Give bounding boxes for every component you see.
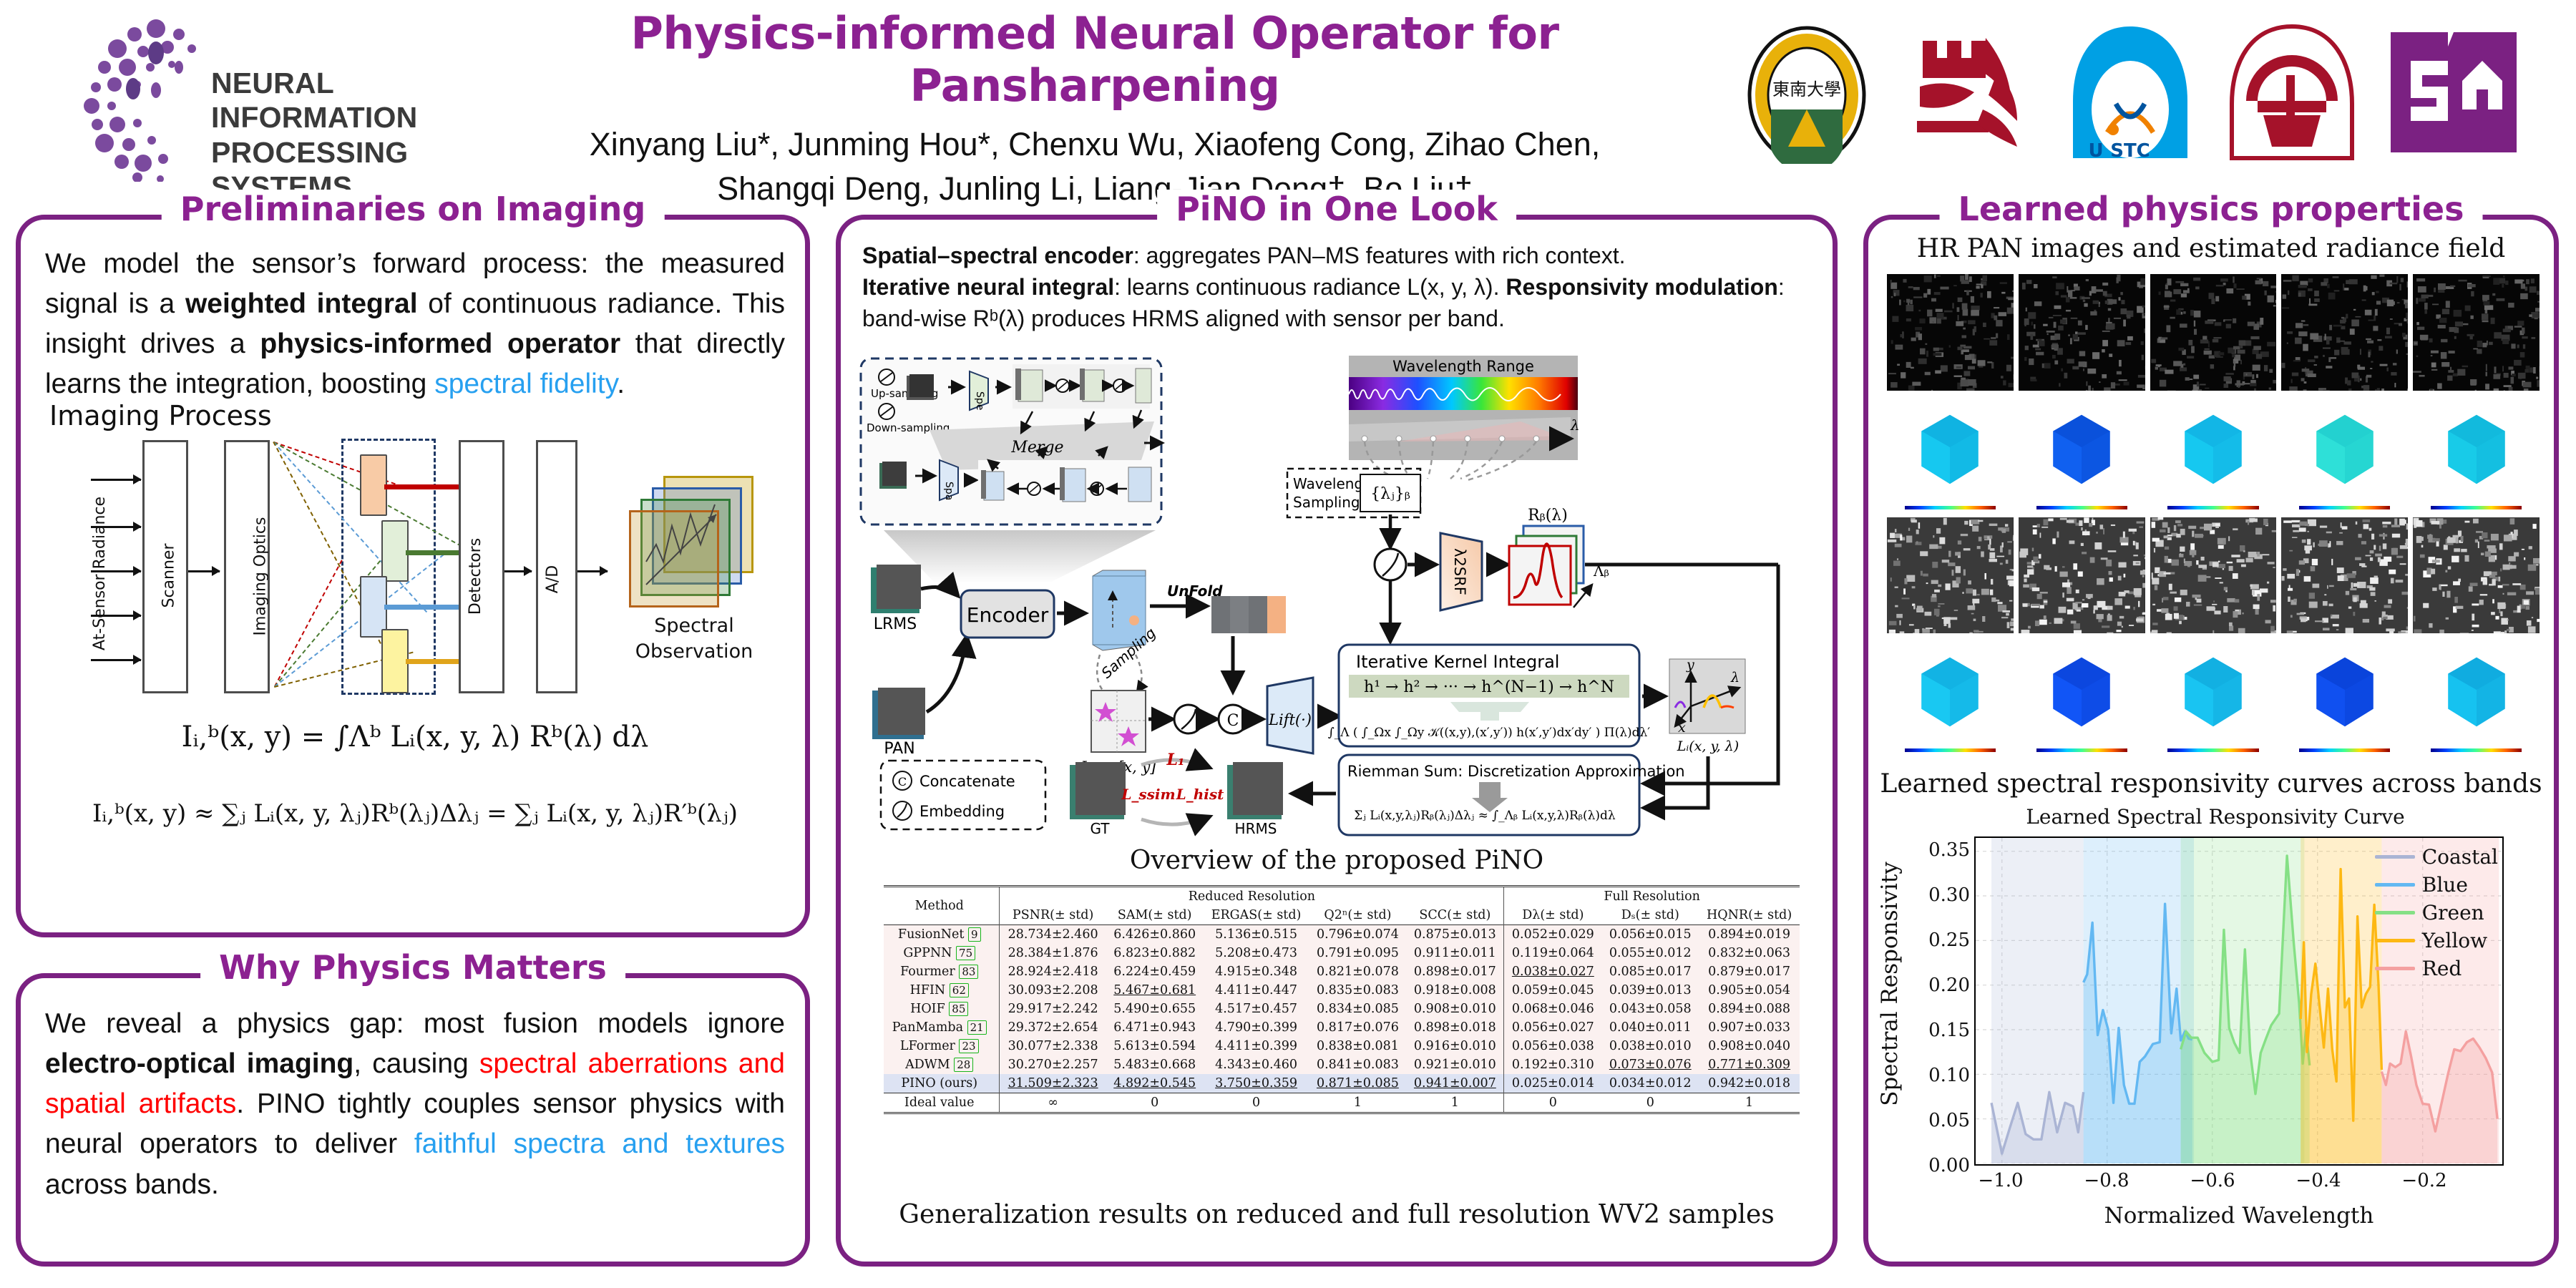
x-tick-label: −0.4 [2296, 1170, 2341, 1191]
diagram-label-scanner: Scanner [160, 543, 178, 608]
cell-value: 0.875±0.013 [1406, 925, 1503, 945]
cell-value: 0.056±0.038 [1504, 1037, 1601, 1055]
x-tick-label: −1.0 [1978, 1170, 2023, 1191]
pino-line1-rest: : aggregates PAN–MS features with rich c… [1133, 243, 1626, 268]
ideal-scc: 1 [1406, 1093, 1503, 1113]
cell-value: 0.898±0.018 [1406, 1018, 1503, 1037]
y-tick-label: 0.00 [1928, 1155, 1970, 1176]
lambda-set-label: {λⱼ}ᵦ [1370, 485, 1410, 503]
hohai-university-logo [1897, 21, 2040, 164]
col-header-ergas: ERGAS(± std) [1204, 906, 1309, 925]
cell-value: 0.941±0.007 [1406, 1074, 1503, 1093]
results-table-head: Method Reduced Resolution Full Resolutio… [884, 887, 1800, 925]
radiance-field-cube [2019, 396, 2145, 512]
col-header-scc: SCC(± std) [1406, 906, 1503, 925]
y-tick-label: 0.05 [1928, 1110, 1970, 1131]
equation-discrete-sum: Iᵢ,ᵇ(x, y) ≈ ∑ⱼ Lᵢ(x, y, λⱼ)Rᵇ(λⱼ)Δλⱼ = … [45, 799, 785, 828]
chart-title: Learned Spectral Responsivity Curve [1890, 805, 2541, 829]
cell-value: 0.879±0.017 [1699, 962, 1800, 981]
cell-value: 0.916±0.010 [1406, 1037, 1503, 1055]
cell-method: GPPNN 75 [884, 944, 1000, 962]
colorbar [2299, 506, 2390, 509]
table-row-ideal: Ideal value ∞ 0 0 1 1 0 0 1 [884, 1093, 1800, 1113]
cell-method: PINO (ours) [884, 1074, 1000, 1093]
table-row: PINO (ours)31.509±2.3234.892±0.5453.750±… [884, 1074, 1800, 1093]
spectrum-curve-icon [629, 476, 751, 605]
legend-swatch [2375, 967, 2415, 970]
reference-badge[interactable]: 75 [956, 946, 975, 960]
colorbar [2431, 506, 2522, 509]
author-line-1: Xinyang Liu*, Junming Hou*, Chenxu Wu, X… [472, 123, 1717, 166]
cube-icon [2047, 655, 2116, 729]
imaging-process-diagram: At-Sensor Radiance Scanner Imaging Optic… [47, 434, 784, 706]
colorbar [2167, 748, 2258, 752]
why-bold-1: electro-optical imaging [45, 1048, 353, 1079]
prelim-bold-2: physics-informed operator [260, 328, 620, 359]
table-column-header-row: PSNR(± std) SAM(± std) ERGAS(± std) Q2ⁿ(… [884, 906, 1800, 925]
y-tick-label: 0.35 [1928, 839, 1970, 861]
riemann-eq: Σⱼ Lᵢ(x,y,λⱼ)Rᵦ(λⱼ)Δλⱼ ≈ ∫_Λᵦ Lᵢ(x,y,λ)R… [1354, 809, 1616, 823]
cube-icon [2311, 655, 2379, 729]
pino-bold-integral: Iterative neural integral [862, 274, 1114, 300]
cell-value: 0.056±0.027 [1504, 1018, 1601, 1037]
cell-value: 0.043±0.058 [1601, 1000, 1699, 1018]
cell-value: 5.136±0.515 [1204, 925, 1309, 945]
colorbar [2036, 506, 2127, 509]
ideal-sam: 0 [1106, 1093, 1204, 1113]
chart-plot-area: CoastalBlueGreenYellowRed [1974, 836, 2504, 1166]
cell-value: 0.119±0.064 [1504, 944, 1601, 962]
axis-y-label: y [1686, 657, 1694, 673]
cell-value: 0.791±0.095 [1309, 944, 1406, 962]
panel-title-learned-physics: Learned physics properties [1940, 190, 2483, 228]
cell-value: 4.790±0.399 [1204, 1018, 1309, 1037]
cell-value: 0.921±0.010 [1406, 1055, 1503, 1074]
cell-method: ADWM 28 [884, 1055, 1000, 1074]
reference-badge[interactable]: 9 [968, 927, 981, 942]
cell-value: 29.372±2.654 [1000, 1018, 1106, 1037]
table-row: Fourmer 8328.924±2.4186.224±0.4594.915±0… [884, 962, 1800, 981]
caption-overview: Overview of the proposed PiNO [841, 846, 1833, 875]
diagram-label-imaging-optics: Imaging Optics [251, 517, 269, 636]
cell-value: 5.490±0.655 [1106, 1000, 1204, 1018]
encoder-label: Encoder [967, 603, 1049, 627]
results-table-body: FusionNet 928.734±2.4606.426±0.8605.136±… [884, 925, 1800, 1093]
cell-value: 4.343±0.460 [1204, 1055, 1309, 1074]
spectral-observation-label: Spectral Observation [605, 613, 784, 665]
cell-value: 0.905±0.054 [1699, 981, 1800, 1000]
radiance-field-cube [2281, 638, 2408, 755]
cell-value: 0.034±0.012 [1601, 1074, 1699, 1093]
hr-pan-image [2019, 517, 2145, 634]
col-header-dlambda: Dλ(± std) [1504, 906, 1601, 925]
uestc-logo: STC U [2059, 21, 2202, 164]
spectral-responsivity-chart: Learned Spectral Responsivity Curve Spec… [1890, 805, 2541, 1249]
radiance-field-cube [2413, 396, 2540, 512]
radiance-field-cube [2019, 638, 2145, 755]
equation-integral: Iᵢ,ᵇ(x, y) = ∫Λᵇ Lᵢ(x, y, λ) Rᵇ(λ) dλ [45, 721, 785, 753]
ideal-q2n: 1 [1309, 1093, 1406, 1113]
concat-node-label: C [1227, 712, 1239, 730]
legend-item[interactable]: Red [2375, 957, 2498, 980]
legend-label: Red [2422, 957, 2462, 980]
diagram-label-at-sensor-radiance: At-Sensor Radiance [91, 497, 109, 650]
cell-value: 4.411±0.447 [1204, 981, 1309, 1000]
y-tick-label: 0.10 [1928, 1065, 1970, 1086]
hr-pan-image [2413, 517, 2540, 634]
hr-pan-image [2150, 517, 2277, 634]
cube-icon [2047, 412, 2116, 487]
saut-logo [2382, 21, 2525, 164]
cell-value: 6.823±0.882 [1106, 944, 1204, 962]
diagram-arrow [188, 570, 220, 572]
legend-concatenate-label: Concatenate [919, 773, 1015, 790]
legend-swatch [2375, 911, 2415, 914]
legend-label: Coastal [2422, 845, 2498, 869]
radiance-label: Lᵢ(x, y, λ) [1677, 738, 1739, 754]
panel-preliminaries-on-imaging: Preliminaries on Imaging We model the se… [16, 215, 810, 937]
chart-legend: CoastalBlueGreenYellowRed [2375, 845, 2498, 985]
architecture-svg: Up-sampling Down-sampling Spe [855, 356, 1828, 842]
svg-text:U: U [2088, 140, 2103, 162]
lift-label: Lift(·) [1268, 711, 1312, 728]
radiance-field-cube [1887, 396, 2014, 512]
diagram-label-detectors: Detectors [467, 538, 484, 615]
legend-label: Blue [2422, 873, 2468, 897]
affiliation-logos: 東南大學 STC U [1735, 10, 2547, 175]
table-group-header-row: Method Reduced Resolution Full Resolutio… [884, 887, 1800, 907]
svg-text:東南大學: 東南大學 [1772, 79, 1841, 99]
legend-swatch [2375, 883, 2415, 887]
cell-value: 30.077±2.338 [1000, 1037, 1106, 1055]
radiance-field-cube [1887, 638, 2014, 755]
axis-x-label: x [1678, 720, 1686, 736]
ideal-ds: 0 [1601, 1093, 1699, 1113]
pan-label: PAN [884, 740, 914, 758]
xian-jiaotong-university-logo [2220, 21, 2363, 164]
col-header-sam: SAM(± std) [1106, 906, 1204, 925]
hr-pan-image [2150, 274, 2277, 391]
hrms-label: HRMS [1235, 820, 1277, 837]
ray-red-2 [274, 560, 343, 687]
panel-pino-in-one-look: PiNO in One Look Spatial–spectral encode… [836, 215, 1838, 1267]
neurips-wordmark-line1: NEURAL INFORMATION [211, 66, 472, 135]
pino-line-1: Spatial–spectral encoder: aggregates PAN… [862, 240, 1818, 271]
col-header-ds: Dₛ(± std) [1601, 906, 1699, 925]
cell-value: 6.224±0.459 [1106, 962, 1204, 981]
cube-icon [2179, 655, 2248, 729]
cube-icon [2311, 412, 2379, 487]
detector-line-green [406, 550, 459, 555]
colorbar [2431, 748, 2522, 752]
results-table: Method Reduced Resolution Full Resolutio… [884, 885, 1800, 1114]
cell-value: 6.426±0.860 [1106, 925, 1204, 945]
cell-value: 5.208±0.473 [1204, 944, 1309, 962]
loss-ssim-label: L_ssim [1121, 786, 1175, 803]
cell-value: 0.832±0.063 [1699, 944, 1800, 962]
results-table-foot: Ideal value ∞ 0 0 1 1 0 0 1 [884, 1093, 1800, 1113]
poster-root: NEURAL INFORMATION PROCESSING SYSTEMS Ph… [0, 0, 2576, 1288]
filter-yellow [381, 629, 409, 693]
cell-value: 0.942±0.018 [1699, 1074, 1800, 1093]
svg-text:STC: STC [2110, 140, 2150, 162]
southeast-university-logo: 東南大學 [1735, 21, 1878, 164]
colorbar [2167, 506, 2258, 509]
reference-badge[interactable]: 83 [959, 965, 978, 979]
cell-value: 0.038±0.010 [1601, 1037, 1699, 1055]
pino-summary-paragraph: Spatial–spectral encoder: aggregates PAN… [862, 240, 1818, 334]
cell-value: 0.052±0.029 [1504, 925, 1601, 945]
why-text-2: , causing [353, 1048, 479, 1079]
table-row: ADWM 2830.270±2.2575.483±0.6684.343±0.46… [884, 1055, 1800, 1074]
radiance-field-cube [2150, 638, 2277, 755]
diagram-arrow [504, 570, 532, 572]
cell-value: 0.085±0.017 [1601, 962, 1699, 981]
subtitle-responsivity-curves: Learned spectral responsivity curves acr… [1868, 769, 2554, 799]
radiance-field-cube [2281, 396, 2408, 512]
cell-value: 5.613±0.594 [1106, 1037, 1204, 1055]
group-header-full: Full Resolution [1504, 887, 1800, 907]
diagram-arrow [577, 570, 608, 572]
cell-value: 0.040±0.011 [1601, 1018, 1699, 1037]
reference-badge[interactable]: 23 [959, 1039, 978, 1053]
cell-method: HFIN 62 [884, 981, 1000, 1000]
col-header-q2n: Q2ⁿ(± std) [1309, 906, 1406, 925]
cell-value: 0.911±0.011 [1406, 944, 1503, 962]
cube-icon [2179, 412, 2248, 487]
cube-icon [1916, 655, 1984, 729]
cell-value: 4.517±0.457 [1204, 1000, 1309, 1018]
reference-badge[interactable]: 21 [967, 1020, 987, 1035]
cell-value: 0.771±0.309 [1699, 1055, 1800, 1074]
why-text-4: across bands. [45, 1169, 219, 1200]
cell-value: 0.025±0.014 [1504, 1074, 1601, 1093]
why-physics-paragraph: We reveal a physics gap: most fusion mod… [45, 1004, 785, 1205]
cell-value: 0.192±0.310 [1504, 1055, 1601, 1074]
merge-label: Merge [1010, 439, 1063, 457]
ideal-psnr: ∞ [1000, 1093, 1106, 1113]
cell-value: 28.734±2.460 [1000, 925, 1106, 945]
x-tick-label: −0.2 [2401, 1170, 2446, 1191]
legend-swatch [2375, 855, 2415, 859]
cell-value: 0.817±0.076 [1309, 1018, 1406, 1037]
panel-why-physics-matters: Why Physics Matters We reveal a physics … [16, 973, 810, 1267]
legend-label: Green [2422, 901, 2484, 924]
hr-pan-image [2281, 274, 2408, 391]
reference-badge[interactable]: 28 [954, 1058, 973, 1072]
radiance-arrow [91, 659, 141, 661]
svg-text:Spe: Spe [974, 391, 985, 410]
legend-embedding-label: Embedding [919, 803, 1005, 820]
rb-lambda-label: Rᵦ(λ) [1528, 507, 1568, 525]
cell-value: 30.093±2.208 [1000, 981, 1106, 1000]
diagram-label-ad: A/D [544, 565, 562, 593]
cell-value: 0.038±0.027 [1504, 962, 1601, 981]
cell-method: HOIF 85 [884, 1000, 1000, 1018]
cell-value: 0.918±0.008 [1406, 981, 1503, 1000]
cell-value: 0.068±0.046 [1504, 1000, 1601, 1018]
ideal-dlambda: 0 [1504, 1093, 1601, 1113]
cube-icon [2442, 412, 2511, 487]
chart-x-ticks: −1.0−0.8−0.6−0.4−0.2 [1974, 1170, 2504, 1199]
gt-label: GT [1090, 820, 1110, 837]
svg-text:C: C [898, 775, 907, 789]
detector-line-yellow [406, 659, 459, 664]
cell-value: 0.059±0.045 [1504, 981, 1601, 1000]
cell-value: 28.924±2.418 [1000, 962, 1106, 981]
cell-method: FusionNet 9 [884, 925, 1000, 945]
kernel-chain-eq: h¹ → h² → ··· → h^(N−1) → h^N [1364, 678, 1614, 696]
cell-value: 4.892±0.545 [1106, 1074, 1204, 1093]
cell-method: Fourmer 83 [884, 962, 1000, 981]
legend-label: Yellow [2422, 929, 2487, 952]
table-row: PanMamba 2129.372±2.6546.471±0.9434.790±… [884, 1018, 1800, 1037]
loss-hist-label: L_hist [1176, 786, 1224, 803]
wavelength-range-label: Wavelength Range [1392, 358, 1534, 375]
col-header-hqnr: HQNR(± std) [1699, 906, 1800, 925]
why-text-1: We reveal a physics gap: most fusion mod… [45, 1008, 785, 1039]
filter-green [381, 520, 409, 582]
chart-y-ticks: 0.000.050.100.150.200.250.300.35 [1890, 836, 1970, 1166]
cell-value: 0.894±0.019 [1699, 925, 1800, 945]
legend-item[interactable]: Coastal [2375, 845, 2498, 869]
prelim-text-4: . [617, 369, 625, 399]
cell-value: 0.039±0.013 [1601, 981, 1699, 1000]
hr-pan-image [2019, 274, 2145, 391]
lambda-axis-label: λ [1570, 416, 1580, 434]
loss-l1-label: L₁ [1166, 751, 1184, 769]
poster-title: Physics-informed Neural Operator for Pan… [472, 7, 1717, 112]
chart-xlabel: Normalized Wavelength [1974, 1203, 2504, 1229]
cell-value: 5.483±0.668 [1106, 1055, 1204, 1074]
cell-value: 29.917±2.242 [1000, 1000, 1106, 1018]
cell-value: 0.821±0.078 [1309, 962, 1406, 981]
y-tick-label: 0.20 [1928, 975, 1970, 996]
col-header-method: Method [884, 887, 1000, 925]
cell-value: 0.073±0.076 [1601, 1055, 1699, 1074]
neurips-logo: NEURAL INFORMATION PROCESSING SYSTEMS [72, 10, 472, 182]
cube-icon [1916, 412, 1984, 487]
wavelength-sampling-label-2: Sampling [1293, 494, 1360, 511]
panel-title-why-physics: Why Physics Matters [200, 948, 625, 987]
cell-value: 31.509±2.323 [1000, 1074, 1106, 1093]
radiance-field-cube [2150, 396, 2277, 512]
y-tick-label: 0.15 [1928, 1020, 1970, 1041]
hr-pan-image [2281, 517, 2408, 634]
imaging-process-label: Imaging Process [49, 400, 272, 431]
x-tick-label: −0.6 [2190, 1170, 2235, 1191]
cell-value: 28.384±1.876 [1000, 944, 1106, 962]
caption-results-table: Generalization results on reduced and fu… [841, 1200, 1833, 1229]
y-tick-label: 0.30 [1928, 884, 1970, 906]
cell-value: 4.411±0.399 [1204, 1037, 1309, 1055]
reference-badge[interactable]: 62 [950, 983, 969, 997]
cell-value: 0.871±0.085 [1309, 1074, 1406, 1093]
cell-value: 5.467±0.681 [1106, 981, 1204, 1000]
preliminaries-paragraph: We model the sensor’s forward process: t… [45, 244, 785, 405]
panel-title-preliminaries: Preliminaries on Imaging [162, 190, 665, 228]
hr-pan-image [2413, 274, 2540, 391]
cell-value: 0.908±0.040 [1699, 1037, 1800, 1055]
spectral-observation-line2: Observation [605, 639, 784, 665]
cube-icon [2442, 655, 2511, 729]
hr-pan-image [1887, 274, 2014, 391]
ideal-hqnr: 1 [1699, 1093, 1800, 1113]
cell-value: 30.270±2.257 [1000, 1055, 1106, 1074]
cell-value: 0.796±0.074 [1309, 925, 1406, 945]
table-row: HFIN 6230.093±2.2085.467±0.6814.411±0.44… [884, 981, 1800, 1000]
radiance-field-cube [2413, 638, 2540, 755]
pino-architecture-diagram: Up-sampling Down-sampling Spe [855, 356, 1828, 842]
detector-line-blue [384, 605, 459, 610]
pino-line2-rest: : learns continuous radiance L(x, y, λ). [1114, 274, 1506, 300]
neurips-wordmark: NEURAL INFORMATION PROCESSING SYSTEMS [211, 66, 472, 205]
cell-value: 0.894±0.088 [1699, 1000, 1800, 1018]
kernel-box-title: Iterative Kernel Integral [1356, 652, 1559, 672]
hr-pan-image [1887, 517, 2014, 634]
subtitle-hr-pan: HR PAN images and estimated radiance fie… [1868, 234, 2554, 263]
prelim-highlight-spectral-fidelity: spectral fidelity [434, 369, 617, 399]
x-tick-label: −0.8 [2084, 1170, 2129, 1191]
colorbar [1905, 506, 1996, 509]
col-header-psnr: PSNR(± std) [1000, 906, 1106, 925]
colorbar [2036, 748, 2127, 752]
cell-value: 0.834±0.085 [1309, 1000, 1406, 1018]
cell-method: PanMamba 21 [884, 1018, 1000, 1037]
spectral-observation-line1: Spectral [605, 613, 784, 639]
lrms-label: LRMS [874, 615, 917, 633]
cell-value: 4.915±0.348 [1204, 962, 1309, 981]
cell-value: 0.056±0.015 [1601, 925, 1699, 945]
cell-value: 0.838±0.081 [1309, 1037, 1406, 1055]
legend-swatch [2375, 939, 2415, 942]
panel-learned-physics-properties: Learned physics properties HR PAN images… [1863, 215, 2559, 1267]
filter-red [360, 454, 387, 516]
pino-bold-responsivity: Responsivity modulation [1506, 274, 1777, 300]
legend-item[interactable]: Green [2375, 901, 2498, 924]
table-row: GPPNN 7528.384±1.8766.823±0.8825.208±0.4… [884, 944, 1800, 962]
group-header-reduced: Reduced Resolution [1000, 887, 1504, 907]
title-block: Physics-informed Neural Operator for Pan… [472, 7, 1717, 210]
panel-title-pino: PiNO in One Look [1157, 190, 1516, 228]
table-row: HOIF 8529.917±2.2425.490±0.6554.517±0.45… [884, 1000, 1800, 1018]
legend-item[interactable]: Yellow [2375, 929, 2498, 952]
radiance-image-grid [1887, 274, 2540, 755]
ideal-ergas: 0 [1204, 1093, 1309, 1113]
prelim-bold-1: weighted integral [185, 288, 418, 319]
table-row: FusionNet 928.734±2.4606.426±0.8605.136±… [884, 925, 1800, 945]
table-row: LFormer 2330.077±2.3385.613±0.5944.411±0… [884, 1037, 1800, 1055]
axis-lambda-label: λ [1730, 670, 1740, 686]
legend-item[interactable]: Blue [2375, 873, 2498, 897]
pino-line-2: Iterative neural integral: learns contin… [862, 271, 1818, 334]
cell-value: 0.835±0.083 [1309, 981, 1406, 1000]
cell-value: 0.908±0.010 [1406, 1000, 1503, 1018]
reference-badge[interactable]: 85 [949, 1002, 968, 1016]
y-tick-label: 0.25 [1928, 930, 1970, 951]
l2srf-label: λ2SRF [1451, 548, 1468, 595]
cell-value: 0.907±0.033 [1699, 1018, 1800, 1037]
detector-line-red [384, 484, 459, 489]
colorbar [2299, 748, 2390, 752]
ideal-label: Ideal value [884, 1093, 1000, 1113]
poster-header: NEURAL INFORMATION PROCESSING SYSTEMS Ph… [0, 0, 2576, 192]
svg-text:Spa: Spa [943, 482, 955, 500]
riemann-title: Riemman Sum: Discretization Approximatio… [1347, 763, 1685, 780]
cell-method: LFormer 23 [884, 1037, 1000, 1055]
cell-value: 3.750±0.359 [1204, 1074, 1309, 1093]
kernel-integral-eq: ∫_Λ ( ∫_Ωx ∫_Ωy 𝒦((x,y),(x′,y′)) h(x′,y′… [1328, 726, 1650, 740]
